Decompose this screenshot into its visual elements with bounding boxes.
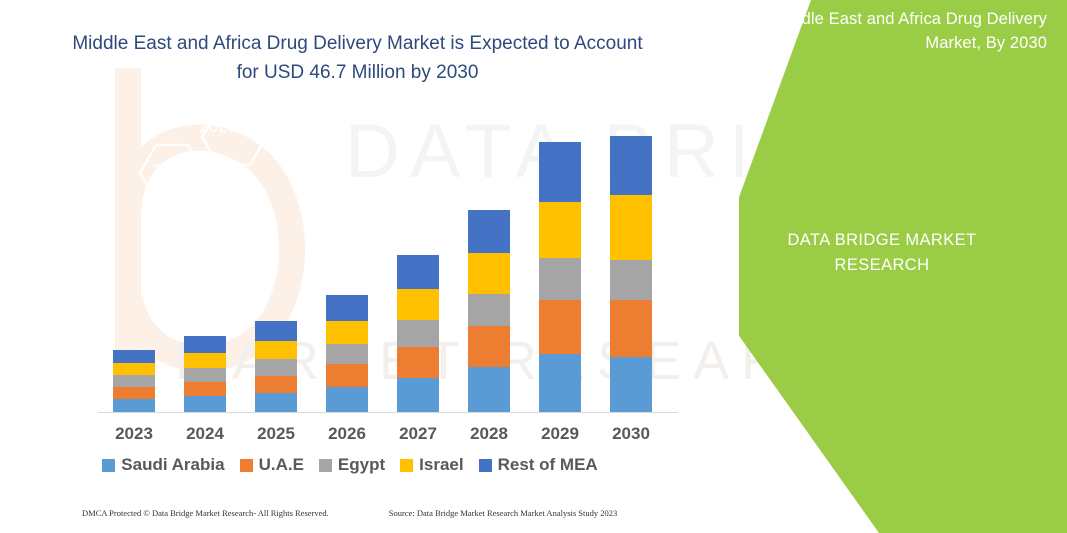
x-axis-label-2023: 2023 <box>94 424 174 444</box>
x-axis-label-2026: 2026 <box>307 424 387 444</box>
bar-2023 <box>113 350 155 412</box>
bar-segment-saudi-arabia-2024 <box>184 396 226 412</box>
x-axis-label-2025: 2025 <box>236 424 316 444</box>
hexagon-2030-label: 2030 <box>142 161 202 181</box>
panel-title: Middle East and Africa Drug Delivery Mar… <box>747 8 1047 56</box>
bar-segment-egypt-2026 <box>326 344 368 364</box>
bar-segment-israel-2027 <box>397 289 439 320</box>
bar-2030 <box>610 136 652 412</box>
bar-segment-egypt-2028 <box>468 294 510 326</box>
legend-label: U.A.E <box>259 455 304 475</box>
bar-segment-saudi-arabia-2030 <box>610 357 652 412</box>
bar-segment-rest-of-mea-2026 <box>326 295 368 321</box>
x-axis-label-2030: 2030 <box>591 424 671 444</box>
brand-name: DATA BRIDGE MARKET RESEARCH <box>717 228 1047 278</box>
bar-segment-u-a-e-2023 <box>113 387 155 399</box>
x-axis-label-2029: 2029 <box>520 424 600 444</box>
bar-segment-u-a-e-2029 <box>539 300 581 354</box>
legend-swatch-icon <box>479 459 492 472</box>
x-axis-line <box>98 412 678 413</box>
footer: DMCA Protected © Data Bridge Market Rese… <box>82 508 702 518</box>
footer-source: Source: Data Bridge Market Research Mark… <box>389 508 618 518</box>
bar-segment-u-a-e-2026 <box>326 364 368 387</box>
bar-segment-egypt-2030 <box>610 260 652 300</box>
brand-line-2: RESEARCH <box>717 253 1047 278</box>
legend-label: Saudi Arabia <box>121 455 224 475</box>
chart-title: Middle East and Africa Drug Delivery Mar… <box>60 30 655 87</box>
legend-label: Egypt <box>338 455 385 475</box>
bar-segment-saudi-arabia-2029 <box>539 354 581 412</box>
bar-segment-saudi-arabia-2027 <box>397 378 439 412</box>
bar-segment-u-a-e-2030 <box>610 300 652 357</box>
bar-segment-saudi-arabia-2028 <box>468 367 510 412</box>
bar-segment-u-a-e-2028 <box>468 326 510 367</box>
bar-2028 <box>468 210 510 412</box>
bar-segment-egypt-2023 <box>113 375 155 387</box>
bar-2026 <box>326 295 368 412</box>
bar-segment-u-a-e-2027 <box>397 347 439 378</box>
hexagon-2023-label: 2023 <box>188 117 248 137</box>
chart-legend: Saudi ArabiaU.A.EEgyptIsraelRest of MEA <box>0 452 700 478</box>
legend-item-israel[interactable]: Israel <box>400 455 463 475</box>
legend-swatch-icon <box>240 459 253 472</box>
bar-segment-egypt-2027 <box>397 320 439 347</box>
x-axis-label-2027: 2027 <box>378 424 458 444</box>
x-axis-label-2028: 2028 <box>449 424 529 444</box>
bar-2024 <box>184 336 226 412</box>
bar-segment-israel-2029 <box>539 202 581 258</box>
legend-swatch-icon <box>102 459 115 472</box>
bar-segment-rest-of-mea-2023 <box>113 350 155 363</box>
bar-segment-saudi-arabia-2023 <box>113 399 155 412</box>
bar-segment-egypt-2029 <box>539 258 581 300</box>
legend-swatch-icon <box>400 459 413 472</box>
bar-segment-rest-of-mea-2030 <box>610 136 652 195</box>
bar-segment-israel-2023 <box>113 363 155 375</box>
bar-segment-israel-2028 <box>468 253 510 294</box>
bar-2027 <box>397 255 439 412</box>
bar-segment-israel-2024 <box>184 353 226 368</box>
legend-item-egypt[interactable]: Egypt <box>319 455 385 475</box>
bar-segment-rest-of-mea-2024 <box>184 336 226 353</box>
bar-2025 <box>255 321 297 412</box>
hexagon-group: 2023 2030 <box>0 105 400 210</box>
bar-segment-israel-2030 <box>610 195 652 260</box>
legend-item-saudi-arabia[interactable]: Saudi Arabia <box>102 455 224 475</box>
bar-segment-egypt-2024 <box>184 368 226 382</box>
bar-segment-saudi-arabia-2025 <box>255 393 297 412</box>
bar-segment-israel-2026 <box>326 321 368 344</box>
bar-segment-saudi-arabia-2026 <box>326 387 368 412</box>
legend-label: Israel <box>419 455 463 475</box>
legend-item-u-a-e[interactable]: U.A.E <box>240 455 304 475</box>
bar-segment-israel-2025 <box>255 341 297 359</box>
bar-segment-rest-of-mea-2029 <box>539 142 581 202</box>
bar-2029 <box>539 142 581 412</box>
infographic-canvas: DATA BRIDGE MARKET RESEARCH Middle East … <box>0 0 1067 533</box>
legend-item-rest-of-mea[interactable]: Rest of MEA <box>479 455 598 475</box>
bar-segment-egypt-2025 <box>255 359 297 376</box>
legend-swatch-icon <box>319 459 332 472</box>
brand-line-1: DATA BRIDGE MARKET <box>717 228 1047 253</box>
bar-segment-u-a-e-2025 <box>255 376 297 393</box>
bar-segment-rest-of-mea-2027 <box>397 255 439 289</box>
footer-copyright: DMCA Protected © Data Bridge Market Rese… <box>82 508 329 518</box>
bar-segment-rest-of-mea-2028 <box>468 210 510 253</box>
bar-segment-rest-of-mea-2025 <box>255 321 297 341</box>
x-axis-label-2024: 2024 <box>165 424 245 444</box>
x-axis-labels: 20232024202520262027202820292030 <box>0 424 700 450</box>
bar-segment-u-a-e-2024 <box>184 382 226 396</box>
legend-label: Rest of MEA <box>498 455 598 475</box>
